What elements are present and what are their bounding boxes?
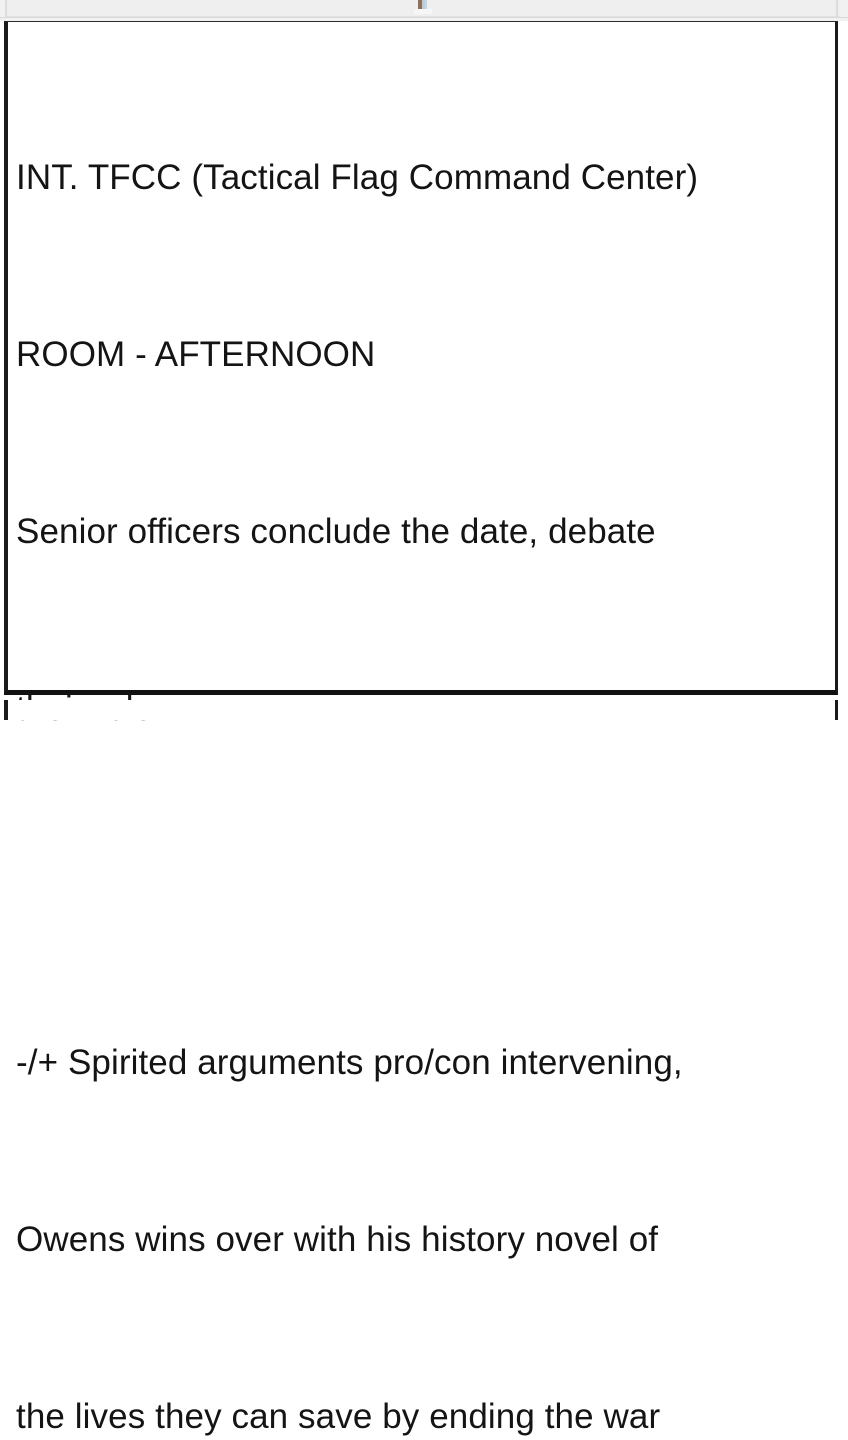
scene-notes-line: INT. TFCC (Tactical Flag Command Center) bbox=[16, 148, 831, 207]
scene-notes-line: Senior officers conclude the date, debat… bbox=[16, 502, 831, 561]
cropped-ui-fragment-shadow bbox=[414, 9, 432, 14]
scene-notes-line: -/+ Spirited arguments pro/con interveni… bbox=[16, 1033, 831, 1092]
scene-notes-line: Owens wins over with his history novel o… bbox=[16, 1210, 831, 1269]
top-chrome-separator bbox=[0, 17, 848, 18]
column-divider-right[interactable] bbox=[836, 0, 838, 17]
adjacent-cell-below[interactable] bbox=[4, 700, 838, 720]
column-divider-left[interactable] bbox=[5, 0, 7, 17]
top-chrome-strip bbox=[0, 0, 848, 21]
scene-notes-line: ROOM - AFTERNOON bbox=[16, 325, 831, 384]
cropped-ui-fragment-icon bbox=[418, 0, 427, 9]
scene-notes-line: the lives they can save by ending the wa… bbox=[16, 1387, 831, 1440]
scene-notes-blank-line bbox=[16, 856, 831, 915]
scene-notes-text: INT. TFCC (Tactical Flag Command Center)… bbox=[16, 30, 831, 1440]
scene-notes-cell[interactable]: INT. TFCC (Tactical Flag Command Center)… bbox=[4, 21, 838, 695]
